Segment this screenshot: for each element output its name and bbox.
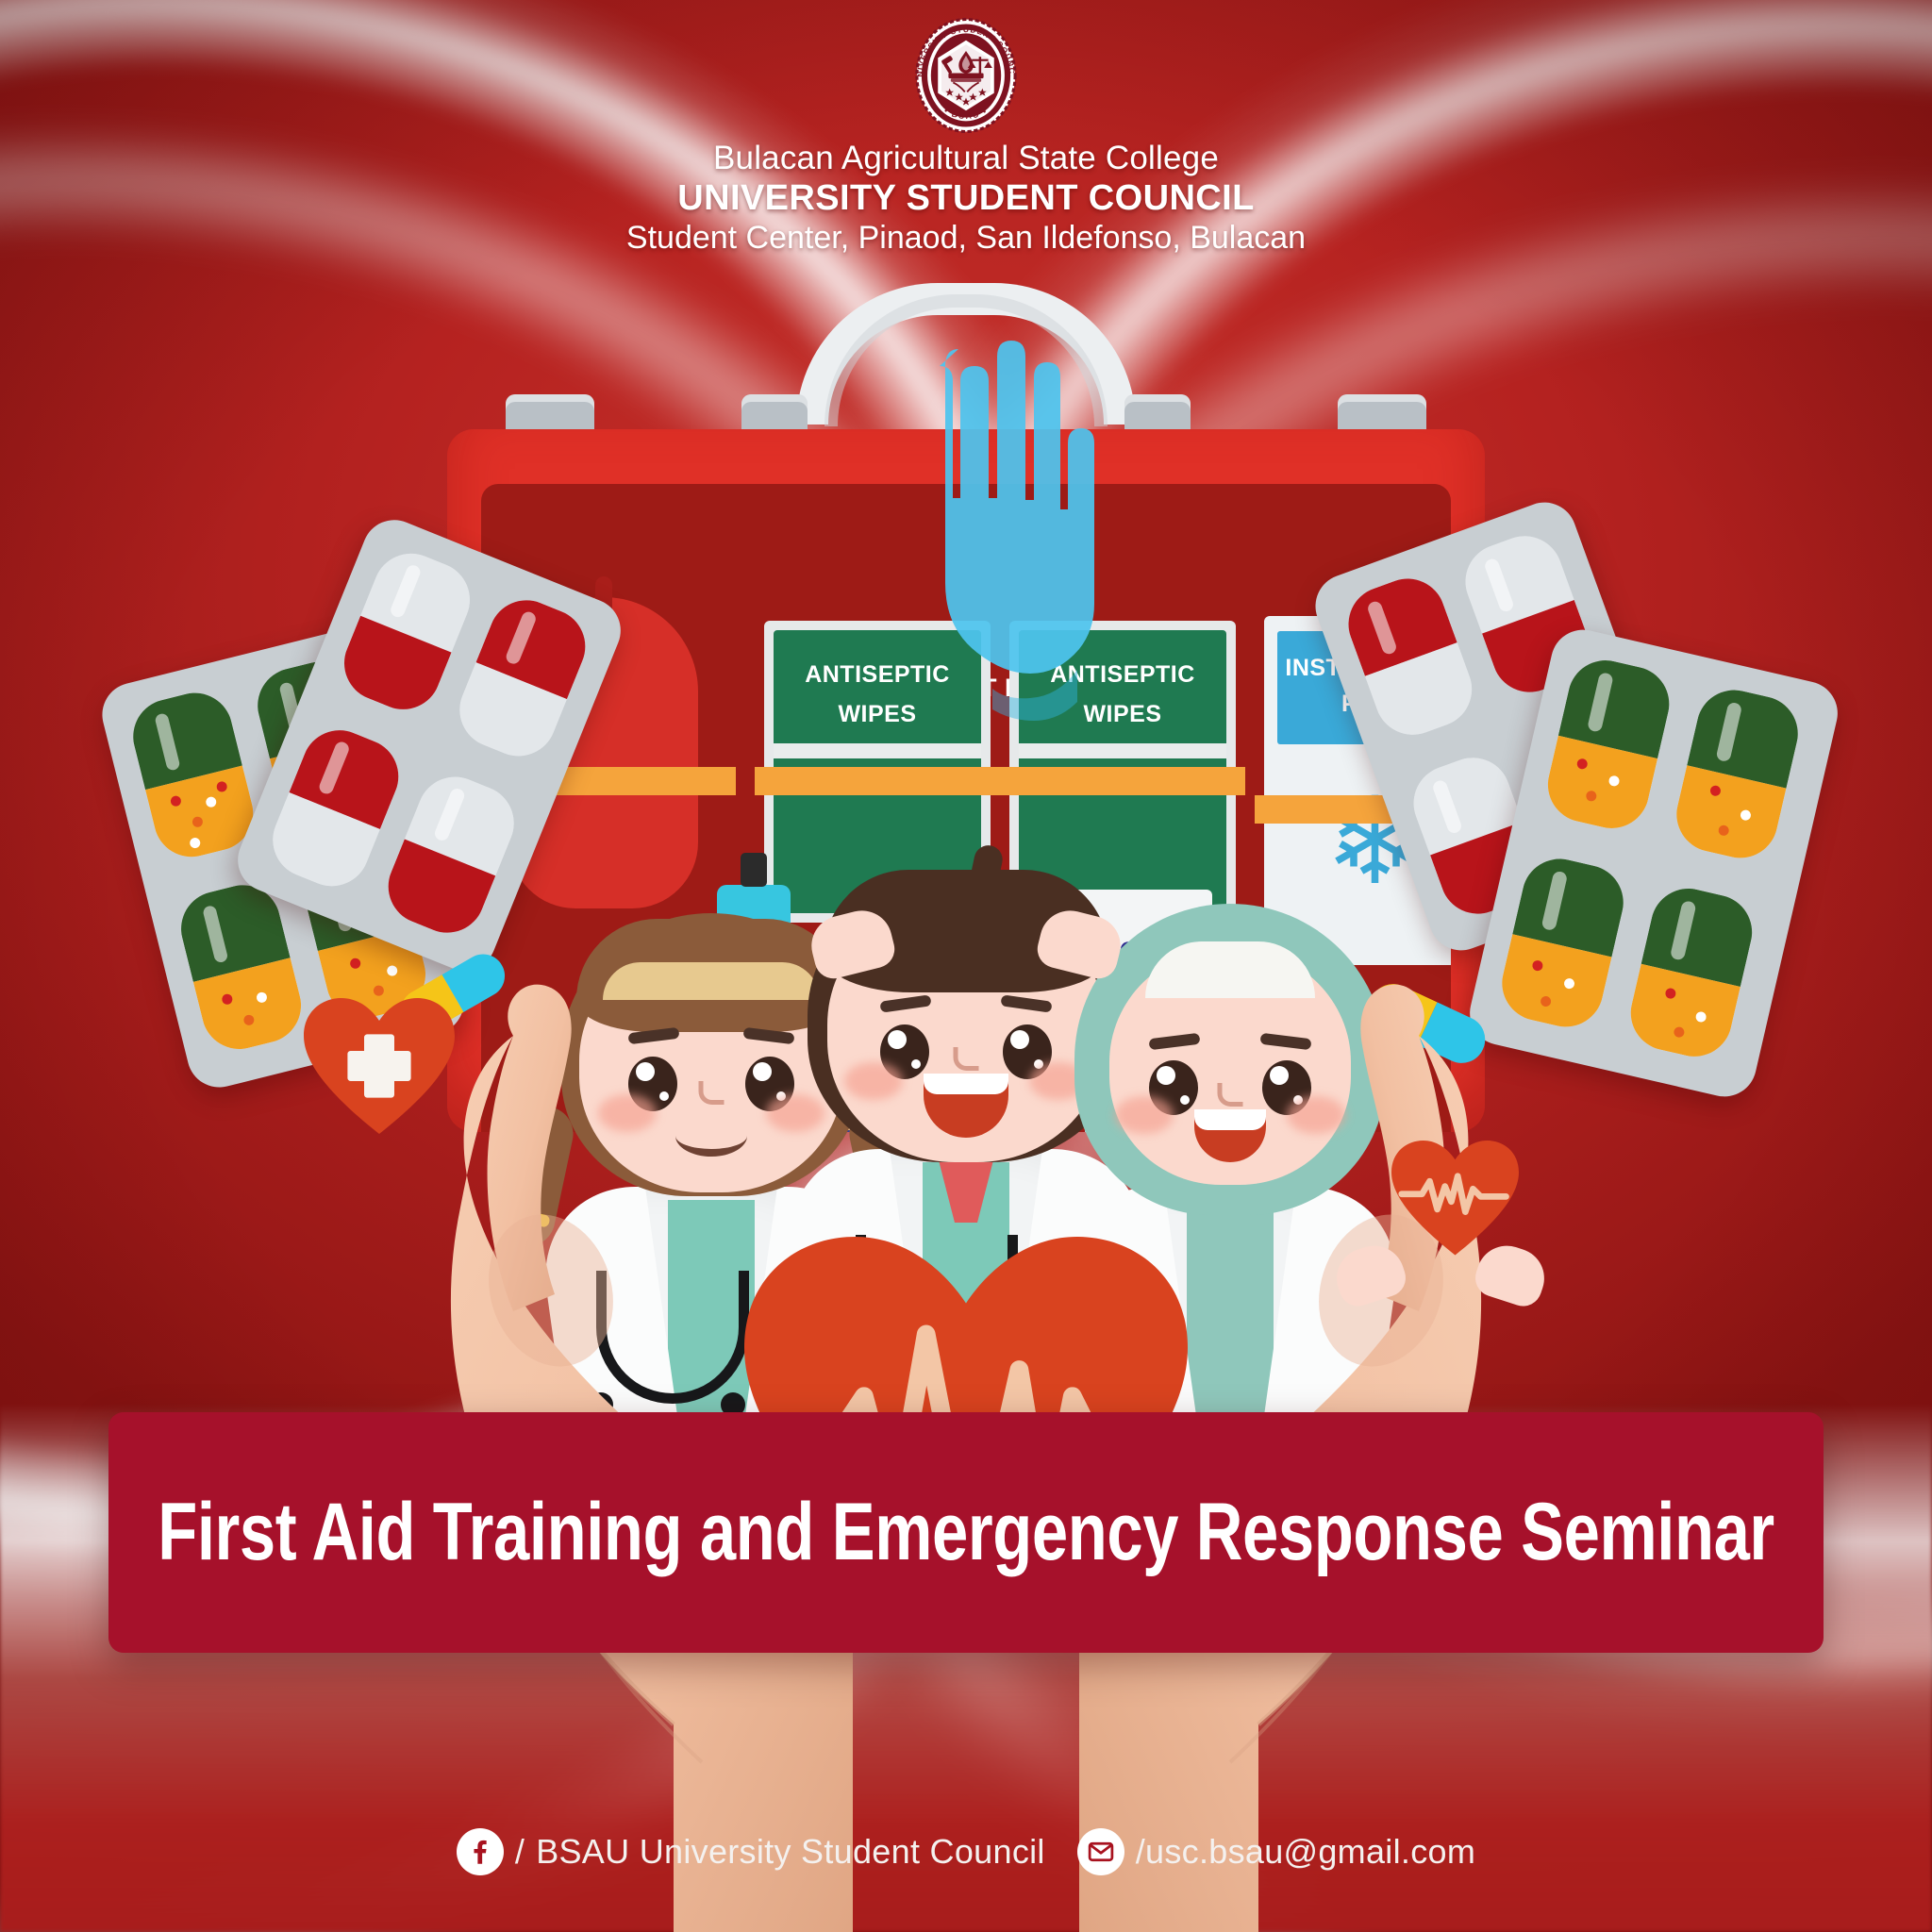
poster-canvas: UNIVERSITY STUDENT COUNCIL • BSAU • Bula…	[0, 0, 1932, 1932]
org-name: Bulacan Agricultural State College	[0, 140, 1932, 177]
facebook-icon	[457, 1828, 504, 1875]
footer-contacts: / BSAU University Student Council /usc.b…	[0, 1828, 1932, 1875]
blue-glove-icon	[902, 321, 1138, 764]
org-address: Student Center, Pinaod, San Ildefonso, B…	[0, 220, 1932, 257]
email-contact[interactable]: /usc.bsau@gmail.com	[1077, 1828, 1475, 1875]
facebook-contact[interactable]: / BSAU University Student Council	[457, 1828, 1045, 1875]
facebook-separator: /	[515, 1832, 525, 1872]
title-banner: First Aid Training and Emergency Respons…	[108, 1412, 1824, 1653]
seminar-title: First Aid Training and Emergency Respons…	[158, 1486, 1774, 1579]
header: UNIVERSITY STUDENT COUNCIL • BSAU • Bula…	[0, 17, 1932, 257]
envelope-icon	[1077, 1828, 1124, 1875]
email-separator-and-address: /usc.bsau@gmail.com	[1136, 1832, 1475, 1872]
small-heart-with-ecg	[1391, 1141, 1519, 1262]
usc-seal-logo: UNIVERSITY STUDENT COUNCIL • BSAU •	[908, 17, 1024, 134]
email-label: usc.bsau@gmail.com	[1145, 1832, 1475, 1871]
email-separator: /	[1136, 1832, 1145, 1871]
facebook-label: BSAU University Student Council	[536, 1832, 1045, 1872]
org-council: UNIVERSITY STUDENT COUNCIL	[0, 178, 1932, 219]
